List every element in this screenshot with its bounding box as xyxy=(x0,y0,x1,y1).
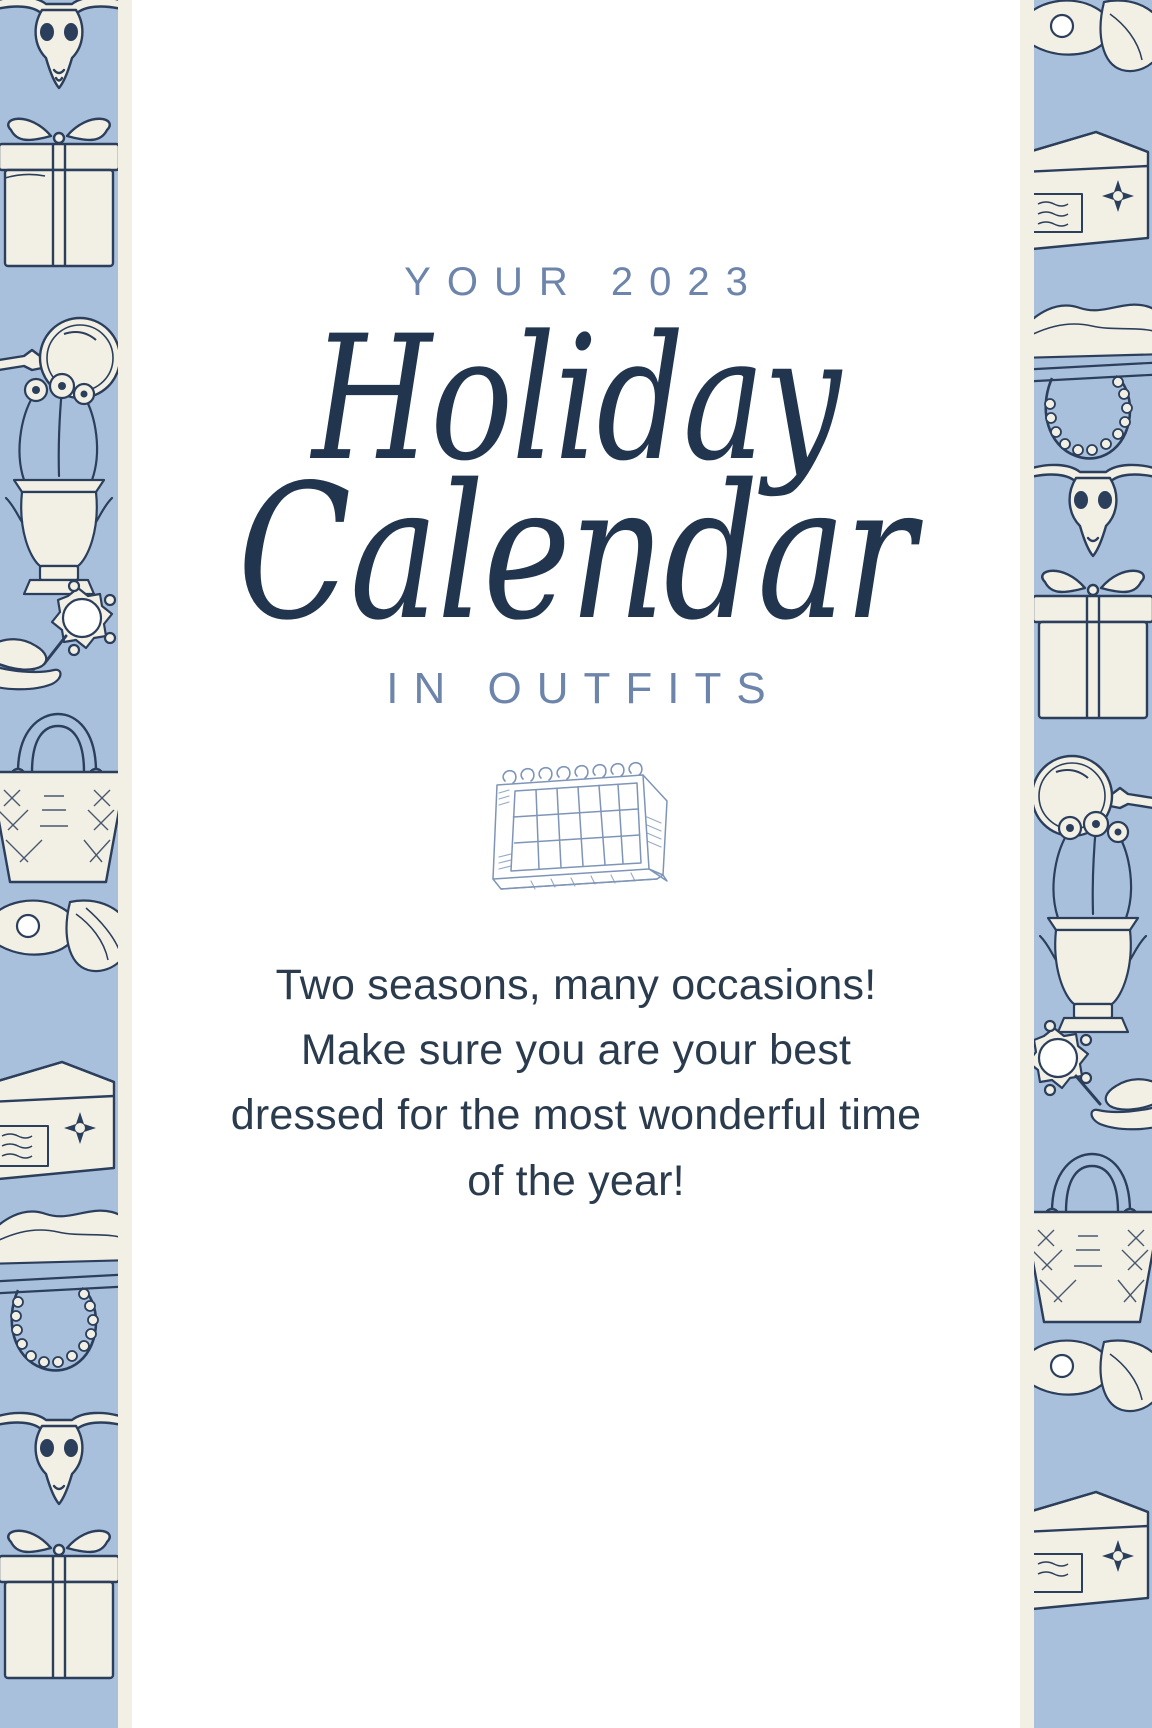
right-motif-column xyxy=(1034,0,1152,1728)
desk-calendar-icon xyxy=(471,757,681,897)
oyster-shell-icon xyxy=(0,890,118,1040)
gift-box-icon xyxy=(1034,560,1152,740)
poster-content: YOUR 2023 Holiday Calendar IN OUTFITS xyxy=(132,0,1020,1728)
hand-holding-mirror-icon xyxy=(1034,1000,1152,1160)
right-decorative-border xyxy=(1034,0,1152,1728)
shipping-box-icon xyxy=(1034,1470,1152,1630)
longhorn-skull-icon xyxy=(1034,452,1152,572)
left-decorative-border xyxy=(0,0,118,1728)
gift-box-icon xyxy=(0,108,118,288)
gift-box-icon xyxy=(0,1520,118,1700)
holiday-calendar-cover: YOUR 2023 Holiday Calendar IN OUTFITS xyxy=(0,0,1152,1728)
shipping-box-icon xyxy=(0,1040,118,1200)
eyebrow-text: YOUR 2023 xyxy=(388,262,764,302)
pearl-necklace-icon xyxy=(0,1264,118,1404)
right-cream-divider xyxy=(1020,0,1034,1728)
oyster-shell-icon xyxy=(1034,1330,1152,1480)
hand-holding-mirror-icon xyxy=(0,560,118,720)
shipping-box-icon xyxy=(1034,110,1152,270)
body-paragraph: Two seasons, many occasions! Make sure y… xyxy=(226,953,926,1214)
left-cream-divider xyxy=(118,0,132,1728)
basket-bag-icon xyxy=(1034,1150,1152,1340)
left-motif-column xyxy=(0,0,118,1728)
title-line-calendar: Calendar xyxy=(238,466,914,641)
basket-bag-icon xyxy=(0,710,118,900)
subtitle-text: IN OUTFITS xyxy=(371,667,780,711)
page-title: Holiday Calendar xyxy=(153,318,998,641)
longhorn-skull-icon xyxy=(0,1400,118,1520)
longhorn-skull-icon xyxy=(0,0,118,104)
